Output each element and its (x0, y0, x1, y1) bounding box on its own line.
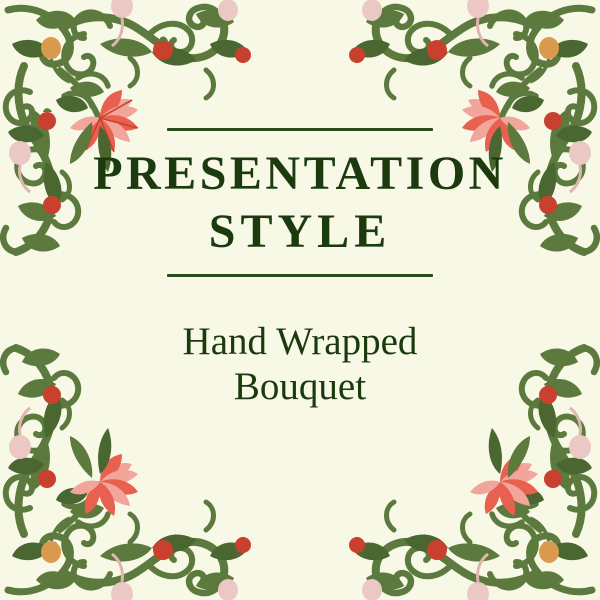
page-title: PRESENTATION STYLE (93, 145, 507, 261)
title-line-1: PRESENTATION (93, 145, 507, 203)
page-subtitle: Hand Wrapped Bouquet (183, 319, 418, 409)
divider-bottom (167, 274, 433, 277)
berry-accent-icon (349, 386, 562, 560)
subtitle-line-1: Hand Wrapped (183, 319, 418, 364)
coral-flower-icon (470, 454, 538, 516)
subtitle-line-2: Bouquet (183, 364, 418, 409)
amber-bud-icon (530, 37, 559, 82)
poster-text-block: PRESENTATION STYLE Hand Wrapped Bouquet (0, 128, 600, 409)
berry-accent-icon (38, 386, 251, 560)
title-line-2: STYLE (93, 203, 507, 261)
amber-bud-icon (530, 518, 559, 563)
coral-flower-icon (70, 454, 138, 516)
divider-top (167, 128, 433, 131)
amber-bud-icon (41, 37, 70, 82)
pink-bud-icon (362, 408, 591, 600)
amber-bud-icon (41, 518, 70, 563)
poster-canvas: PRESENTATION STYLE Hand Wrapped Bouquet (0, 0, 600, 600)
pink-bud-icon (9, 408, 238, 600)
